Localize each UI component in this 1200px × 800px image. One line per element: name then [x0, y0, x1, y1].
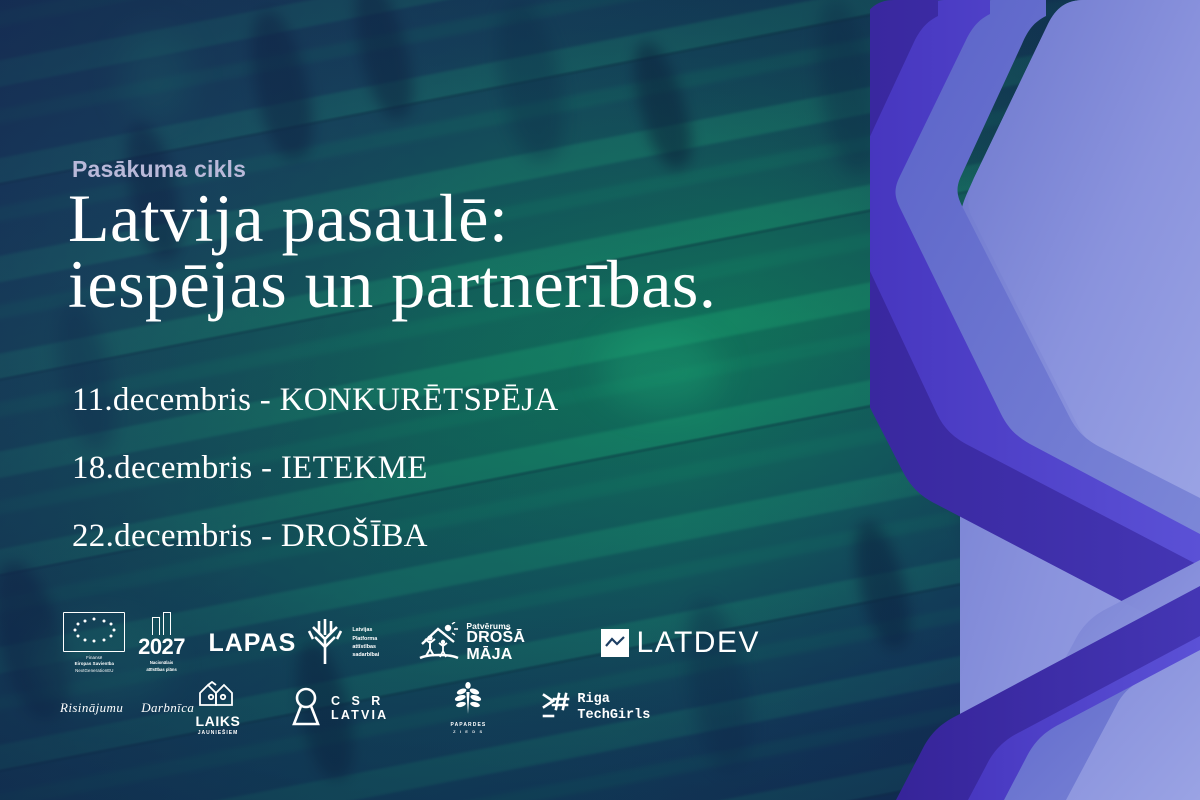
laiks-wordmark: LAIKS: [196, 713, 241, 729]
eu-caption: Finansē Eiropas Savienība NextGeneration…: [75, 655, 115, 675]
csr-line-1: C S R: [331, 694, 388, 708]
csr-latvia-text: C S R LATVIA: [331, 694, 388, 723]
lapas-tree-icon: [305, 617, 345, 670]
logo-row-1: Finansē Eiropas Savienība NextGeneration…: [60, 612, 760, 674]
csr-line-2: LATVIA: [331, 708, 388, 722]
shelter-people-icon: [418, 622, 460, 665]
eu-caption-line-2: Eiropas Savienība: [75, 661, 115, 668]
eu-flag-icon: [63, 612, 125, 652]
lapas-caption-line-1: Latvijas Platforma: [352, 626, 390, 643]
fern-icon: [453, 682, 483, 719]
lapas-caption-line-2: attīstības sadarbībai: [352, 643, 390, 660]
keyhole-person-icon: [290, 686, 322, 731]
nap-year: 2027: [138, 636, 185, 658]
logo-papardes-zieds: PAPARDES Z I E D S: [438, 682, 498, 734]
risinajumu-line-1: Risinājumu: [60, 700, 123, 716]
nap-bars-icon: [152, 613, 171, 635]
eu-caption-line-3: NextGenerationEU: [75, 668, 115, 675]
logo-drosa-maja: Patvērums DROŠĀ MĀJA: [418, 622, 564, 665]
latdev-wordmark: LATDEV: [637, 626, 760, 660]
logo-eu-funded: Finansē Eiropas Savienība NextGeneration…: [60, 612, 129, 675]
session-item: 22.decembris - DROŠĪBA: [72, 518, 559, 555]
session-list: 11.decembris - KONKURĒTSPĒJA 18.decembri…: [72, 382, 559, 586]
latdev-square-icon: [601, 629, 629, 657]
eyebrow-label: Pasākuma cikls: [72, 156, 246, 183]
logo-latdev: LATDEV: [601, 626, 760, 660]
riga-techgirls-text: Riga TechGirls: [577, 692, 650, 725]
logo-laiks-jauniesiem: LAIKS JAUNIEŠIEM: [186, 681, 250, 736]
nap-caption: Nacionālais attīstības plāns: [146, 660, 176, 673]
session-item: 11.decembris - KONKURĒTSPĒJA: [72, 382, 559, 419]
drosa-maja-line-2: DROŠĀ MĀJA: [466, 630, 564, 664]
page-title: Latvija pasaulē: iespējas un partnerības…: [68, 186, 968, 318]
riga-techgirls-line-1: Riga: [577, 692, 650, 708]
paparde-caption-line-2: Z I E D S: [453, 729, 484, 734]
eu-caption-line-1: Finansē: [75, 655, 115, 662]
title-line-2: iespējas un partnerības.: [68, 252, 968, 318]
riga-techgirls-line-2: TechGirls: [577, 708, 650, 724]
logo-row-2: Risinājumu Darbnīca LAIKS: [60, 680, 760, 736]
partner-logo-strip: Finansē Eiropas Savienība NextGeneration…: [60, 612, 760, 736]
nap-caption-line-1: Nacionālais: [146, 660, 176, 666]
logo-csr-latvia: C S R LATVIA: [290, 686, 388, 731]
paparde-caption-line-1: PAPARDES: [451, 722, 487, 728]
lapas-wordmark: LAPAS: [208, 629, 296, 658]
logo-nap-2027: 2027 Nacionālais attīstības plāns: [135, 613, 189, 673]
logo-lapas: LAPAS Latvijas Platforma at: [208, 617, 390, 670]
session-item: 18.decembris - IETEKME: [72, 450, 559, 487]
poster-content: Pasākuma cikls Latvija pasaulē: iespējas…: [0, 0, 1200, 800]
poster-canvas: Pasākuma cikls Latvija pasaulē: iespējas…: [0, 0, 1200, 800]
title-line-1: Latvija pasaulē:: [68, 180, 508, 256]
drosa-maja-text: Patvērums DROŠĀ MĀJA: [466, 622, 564, 664]
lapas-caption: Latvijas Platforma attīstības sadarbībai: [352, 626, 390, 660]
logo-risinajumu-darbnica: Risinājumu Darbnīca: [60, 700, 160, 716]
laiks-caption: JAUNIEŠIEM: [198, 730, 239, 736]
houses-icon: [198, 681, 238, 712]
prompt-hash-icon: [542, 691, 572, 726]
logo-riga-techgirls: Riga TechGirls: [542, 691, 650, 726]
nap-caption-line-2: attīstības plāns: [146, 667, 176, 673]
